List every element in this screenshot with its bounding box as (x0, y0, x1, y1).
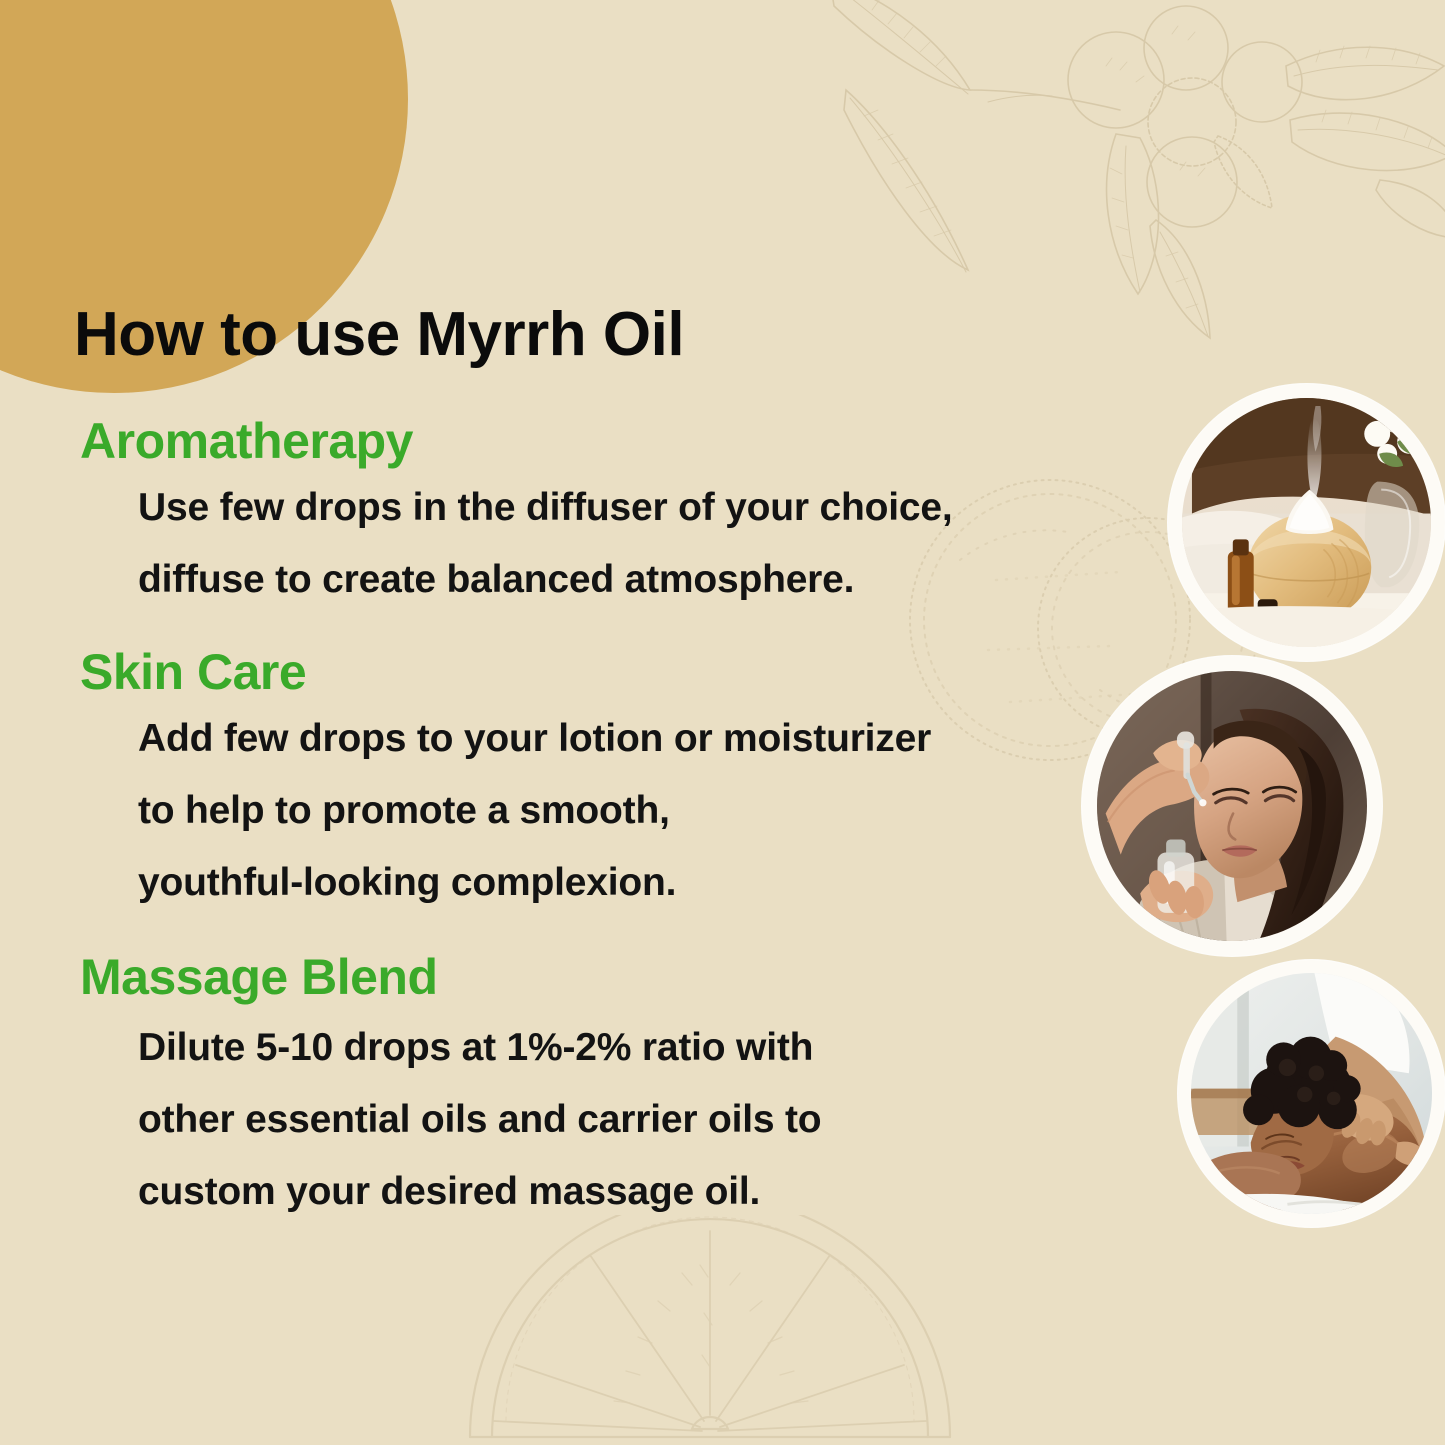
body-line: other essential oils and carrier oils to (138, 1084, 1080, 1156)
section-massage-blend: Massage Blend Dilute 5-10 drops at 1%-2%… (0, 950, 1080, 1228)
section-body-skin-care: Add few drops to your lotion or moisturi… (138, 703, 1080, 919)
infographic-page: How to use Myrrh Oil Aromatherapy Use fe… (0, 0, 1445, 1445)
aromatherapy-diffuser-photo (1168, 384, 1445, 661)
page-title: How to use Myrrh Oil (74, 299, 684, 370)
body-line: custom your desired massage oil. (138, 1156, 1080, 1228)
photo-image-diffuser (1182, 398, 1431, 647)
body-line: diffuse to create balanced atmosphere. (138, 544, 1080, 616)
body-line: to help to promote a smooth, (138, 775, 1080, 847)
massage-therapy-photo (1178, 960, 1445, 1227)
section-body-massage-blend: Dilute 5-10 drops at 1%-2% ratio with ot… (138, 1012, 1080, 1228)
body-line: youthful-looking complexion. (138, 847, 1080, 919)
photo-image-massage (1191, 973, 1432, 1214)
section-aromatherapy: Aromatherapy Use few drops in the diffus… (0, 414, 1080, 616)
photo-image-skincare (1097, 671, 1367, 941)
body-line: Add few drops to your lotion or moisturi… (138, 703, 1080, 775)
section-heading-aromatherapy: Aromatherapy (80, 414, 1080, 468)
body-line: Dilute 5-10 drops at 1%-2% ratio with (138, 1012, 1080, 1084)
body-line: Use few drops in the diffuser of your ch… (138, 472, 1080, 544)
section-skin-care: Skin Care Add few drops to your lotion o… (0, 645, 1080, 919)
section-heading-massage-blend: Massage Blend (80, 950, 1080, 1004)
section-body-aromatherapy: Use few drops in the diffuser of your ch… (138, 472, 1080, 616)
skincare-serum-photo (1082, 656, 1382, 956)
botanical-branch-watermark (820, 0, 1445, 400)
citrus-slice-watermark (430, 1215, 990, 1445)
section-heading-skin-care: Skin Care (80, 645, 1080, 699)
